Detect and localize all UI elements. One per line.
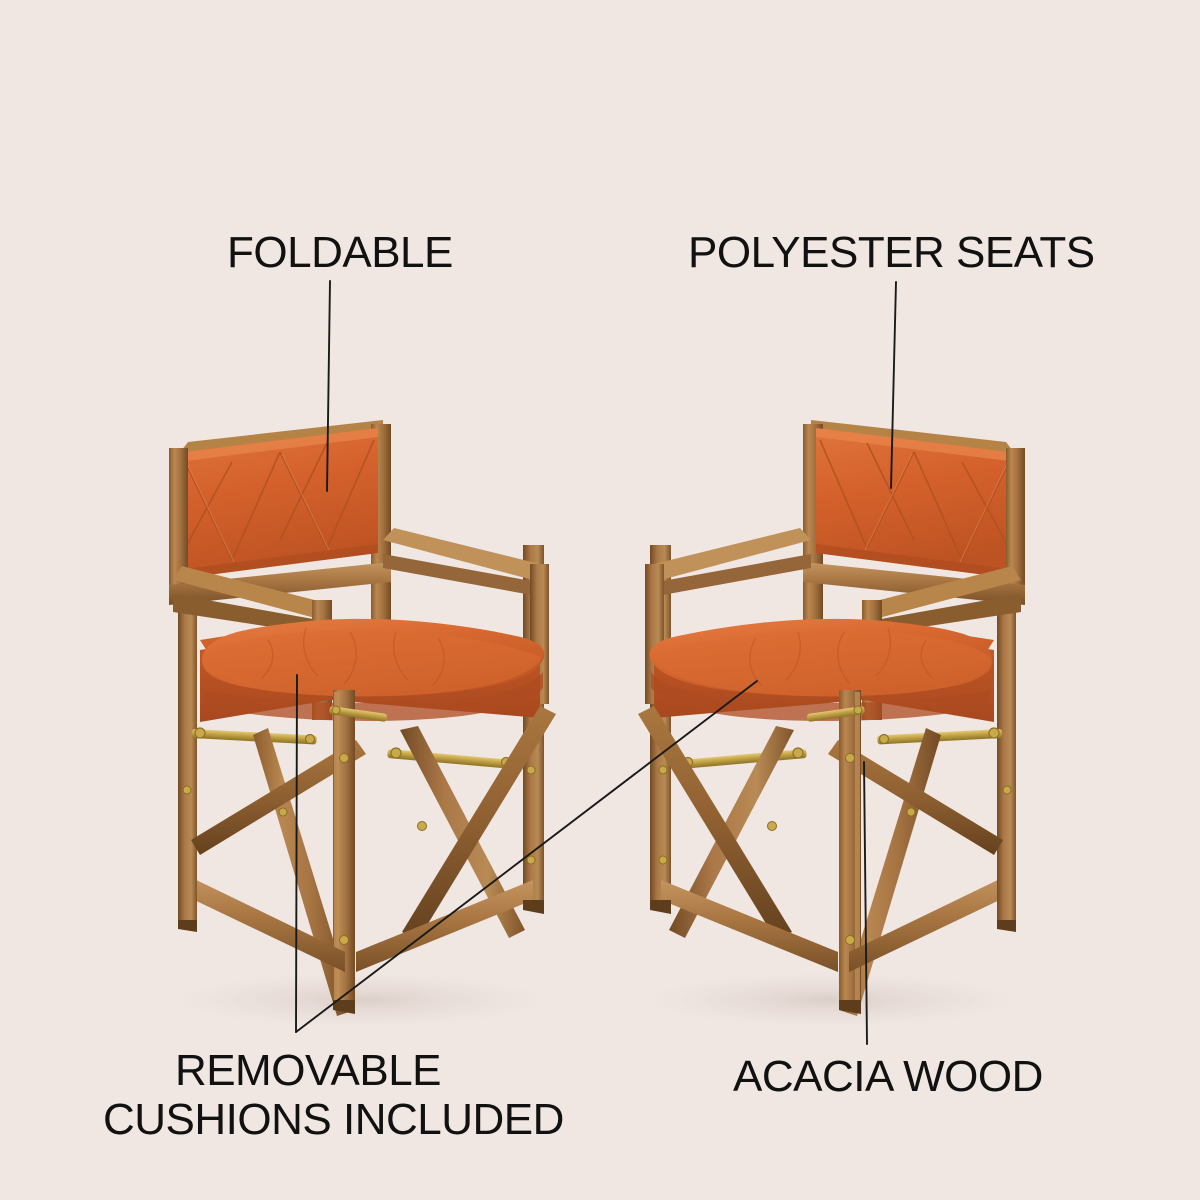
callout-label-removable-cushions: REMOVABLE CUSHIONS INCLUDED bbox=[103, 1046, 513, 1145]
backrest-cushion-right-chair bbox=[816, 428, 1009, 578]
leader-line-removable-a bbox=[296, 675, 297, 1032]
callout-label-polyester-seats: POLYESTER SEATS bbox=[688, 228, 1095, 277]
backrest-cushion-left-chair bbox=[185, 428, 378, 578]
product-illustration bbox=[0, 0, 1200, 1200]
callout-label-foldable: FOLDABLE bbox=[227, 228, 453, 277]
callout-label-acacia-wood: ACACIA WOOD bbox=[733, 1052, 1043, 1101]
infographic-canvas: FOLDABLE POLYESTER SEATS REMOVABLE CUSHI… bbox=[0, 0, 1200, 1200]
